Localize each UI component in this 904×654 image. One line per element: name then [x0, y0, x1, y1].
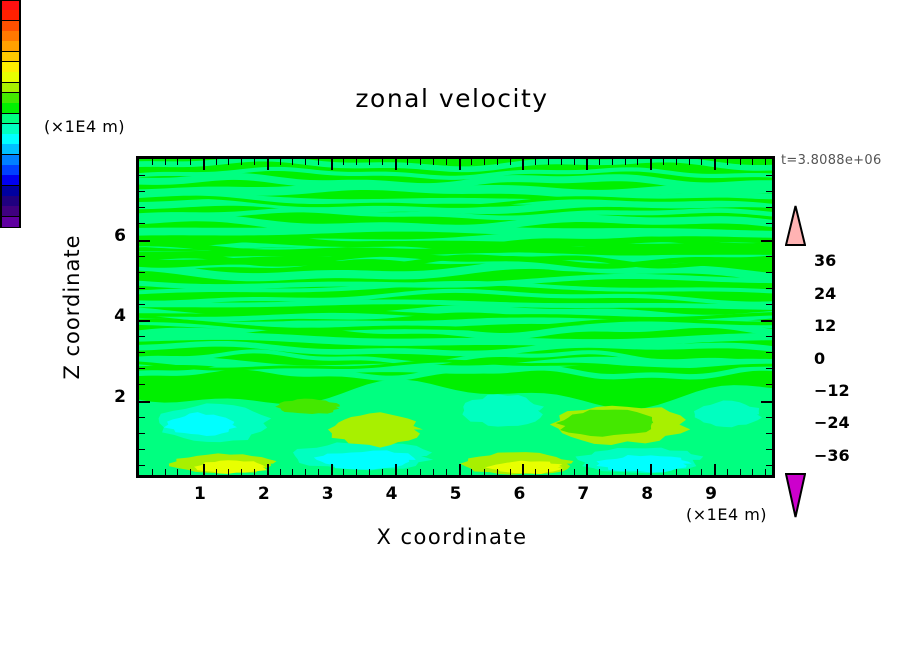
x-tick-label: 7: [563, 484, 603, 504]
tick-mark: [650, 159, 652, 170]
contour-field: [139, 159, 772, 475]
tick-mark: [446, 159, 447, 165]
tick-mark: [701, 159, 702, 165]
tick-mark: [766, 191, 772, 192]
tick-mark: [203, 159, 205, 170]
tick-mark: [689, 159, 690, 165]
tick-mark: [241, 159, 242, 165]
tick-mark: [766, 288, 772, 289]
colorbar-tick-label: −24: [814, 413, 850, 432]
tick-mark: [369, 469, 370, 475]
tick-mark: [139, 384, 145, 385]
colorbar-band: [0, 165, 21, 176]
tick-mark: [766, 417, 772, 418]
tick-mark: [740, 469, 741, 475]
colorbar-band: [0, 52, 21, 63]
tick-mark: [637, 469, 638, 475]
tick-mark: [586, 159, 588, 170]
tick-mark: [382, 159, 383, 165]
tick-mark: [254, 469, 255, 475]
tick-mark: [139, 401, 150, 403]
tick-mark: [701, 469, 702, 475]
tick-mark: [407, 159, 408, 165]
tick-mark: [761, 240, 772, 242]
x-tick-label: 1: [180, 484, 220, 504]
contour-plot-area: [136, 156, 775, 478]
x-axis-title: X coordinate: [0, 525, 904, 549]
tick-mark: [395, 159, 397, 170]
tick-mark: [420, 469, 421, 475]
tick-mark: [612, 469, 613, 475]
tick-mark: [292, 159, 293, 165]
tick-mark: [574, 469, 575, 475]
tick-mark: [139, 465, 145, 466]
tick-mark: [267, 159, 269, 170]
tick-mark: [599, 469, 600, 475]
tick-mark: [139, 175, 145, 176]
tick-mark: [292, 469, 293, 475]
tick-mark: [254, 159, 255, 165]
tick-mark: [714, 464, 716, 475]
tick-mark: [766, 272, 772, 273]
tick-mark: [663, 159, 664, 165]
x-tick-label: 5: [436, 484, 476, 504]
tick-mark: [766, 449, 772, 450]
tick-mark: [228, 159, 229, 165]
tick-mark: [165, 469, 166, 475]
tick-mark: [766, 433, 772, 434]
tick-mark: [765, 469, 766, 475]
tick-mark: [574, 159, 575, 165]
colorbar-band: [0, 196, 21, 207]
tick-mark: [190, 469, 191, 475]
tick-mark: [216, 469, 217, 475]
y-axis-title: Z coordinate: [60, 207, 84, 407]
tick-mark: [343, 469, 344, 475]
tick-mark: [139, 223, 145, 224]
tick-mark: [139, 288, 145, 289]
tick-mark: [689, 469, 690, 475]
tick-mark: [139, 449, 145, 450]
tick-mark: [420, 159, 421, 165]
colorbar-band: [0, 124, 21, 135]
tick-mark: [331, 464, 333, 475]
tick-mark: [152, 469, 153, 475]
colorbar-band: [0, 186, 21, 197]
tick-mark: [459, 159, 461, 170]
tick-mark: [766, 352, 772, 353]
tick-mark: [305, 469, 306, 475]
colorbar-band: [0, 103, 21, 114]
tick-mark: [471, 469, 472, 475]
tick-mark: [766, 465, 772, 466]
tick-mark: [625, 159, 626, 165]
tick-mark: [177, 469, 178, 475]
tick-mark: [139, 320, 150, 322]
tick-mark: [497, 469, 498, 475]
tick-mark: [650, 464, 652, 475]
x-tick-label: 6: [499, 484, 539, 504]
tick-mark: [228, 469, 229, 475]
tick-mark: [484, 469, 485, 475]
colorbar-band: [0, 10, 21, 21]
colorbar: [0, 0, 21, 227]
tick-mark: [727, 469, 728, 475]
colorbar-band: [0, 0, 21, 11]
tick-mark: [471, 159, 472, 165]
tick-mark: [548, 469, 549, 475]
tick-mark: [766, 175, 772, 176]
colorbar-tick-label: 24: [814, 284, 836, 303]
tick-mark: [446, 469, 447, 475]
tick-mark: [752, 159, 753, 165]
tick-mark: [586, 464, 588, 475]
colorbar-band: [0, 206, 21, 217]
x-tick-label: 4: [372, 484, 412, 504]
tick-mark: [139, 256, 145, 257]
tick-mark: [407, 469, 408, 475]
tick-mark: [766, 384, 772, 385]
tick-mark: [395, 464, 397, 475]
tick-mark: [433, 469, 434, 475]
tick-mark: [535, 159, 536, 165]
tick-mark: [625, 469, 626, 475]
colorbar-band: [0, 144, 21, 155]
colorbar-tick-label: −12: [814, 381, 850, 400]
tick-mark: [318, 159, 319, 165]
tick-mark: [139, 272, 145, 273]
tick-mark: [766, 223, 772, 224]
colorbar-band: [0, 114, 21, 125]
tick-mark: [548, 159, 549, 165]
tick-mark: [139, 191, 145, 192]
tick-mark: [139, 336, 145, 337]
tick-mark: [510, 469, 511, 475]
tick-mark: [766, 368, 772, 369]
tick-mark: [740, 159, 741, 165]
tick-mark: [676, 469, 677, 475]
tick-mark: [561, 159, 562, 165]
colorbar-band: [0, 41, 21, 52]
y-tick-label: 4: [86, 306, 126, 326]
tick-mark: [766, 336, 772, 337]
tick-mark: [267, 464, 269, 475]
tick-mark: [612, 159, 613, 165]
tick-mark: [139, 368, 145, 369]
colorbar-band: [0, 31, 21, 42]
tick-mark: [522, 159, 524, 170]
tick-mark: [177, 159, 178, 165]
tick-mark: [561, 469, 562, 475]
colorbar-under-arrow: [785, 473, 806, 518]
x-axis-units-label: (×1E4 m): [686, 505, 767, 524]
tick-mark: [663, 469, 664, 475]
tick-mark: [766, 256, 772, 257]
tick-mark: [510, 159, 511, 165]
chart-title: zonal velocity: [0, 84, 904, 113]
tick-mark: [676, 159, 677, 165]
tick-mark: [318, 469, 319, 475]
colorbar-band: [0, 93, 21, 104]
colorbar-band: [0, 72, 21, 83]
tick-mark: [637, 159, 638, 165]
x-tick-label: 2: [244, 484, 284, 504]
colorbar-band: [0, 134, 21, 145]
tick-mark: [139, 352, 145, 353]
colorbar-band: [0, 62, 21, 73]
tick-mark: [343, 159, 344, 165]
tick-mark: [356, 159, 357, 165]
tick-mark: [139, 304, 145, 305]
tick-mark: [356, 469, 357, 475]
y-tick-label: 2: [86, 387, 126, 407]
tick-mark: [216, 159, 217, 165]
tick-mark: [727, 159, 728, 165]
colorbar-band: [0, 21, 21, 32]
tick-mark: [382, 469, 383, 475]
tick-mark: [535, 469, 536, 475]
tick-mark: [761, 320, 772, 322]
colorbar-band: [0, 83, 21, 94]
tick-mark: [139, 433, 145, 434]
tick-mark: [331, 159, 333, 170]
colorbar-tick-label: −36: [814, 446, 850, 465]
tick-mark: [152, 159, 153, 165]
tick-mark: [761, 401, 772, 403]
tick-mark: [190, 159, 191, 165]
colorbar-tick-label: 0: [814, 349, 825, 368]
tick-mark: [305, 159, 306, 165]
tick-mark: [714, 159, 716, 170]
colorbar-band: [0, 175, 21, 186]
tick-mark: [139, 240, 150, 242]
x-tick-label: 9: [691, 484, 731, 504]
tick-mark: [766, 207, 772, 208]
x-tick-label: 3: [308, 484, 348, 504]
tick-mark: [766, 304, 772, 305]
tick-mark: [139, 417, 145, 418]
tick-mark: [280, 469, 281, 475]
tick-mark: [599, 159, 600, 165]
tick-mark: [369, 159, 370, 165]
tick-mark: [459, 464, 461, 475]
y-axis-units-label: (×1E4 m): [44, 117, 125, 136]
tick-mark: [522, 464, 524, 475]
tick-mark: [433, 159, 434, 165]
tick-mark: [241, 469, 242, 475]
tick-mark: [139, 207, 145, 208]
y-tick-label: 6: [86, 226, 126, 246]
tick-mark: [497, 159, 498, 165]
colorbar-band: [0, 155, 21, 166]
tick-mark: [752, 469, 753, 475]
x-tick-label: 8: [627, 484, 667, 504]
tick-mark: [280, 159, 281, 165]
tick-mark: [203, 464, 205, 475]
colorbar-tick-label: 36: [814, 251, 836, 270]
colorbar-tick-label: 12: [814, 316, 836, 335]
tick-mark: [765, 159, 766, 165]
colorbar-band: [0, 217, 21, 228]
tick-mark: [165, 159, 166, 165]
colorbar-over-arrow: [785, 205, 806, 246]
tick-mark: [484, 159, 485, 165]
timestamp-label: t=3.8088e+06: [781, 153, 882, 168]
